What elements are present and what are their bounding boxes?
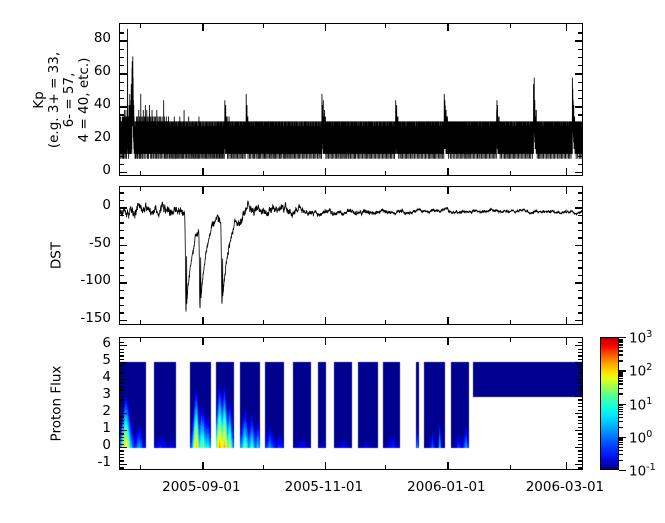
colorbar-tick-label-4: 103 [629,328,652,346]
colorbar-tick-minor [619,450,623,451]
kp-ytick-minor [120,90,124,91]
pf-ytick-minor [120,406,124,407]
xtick-minor-top [385,338,386,342]
pf-ytick-minor-right [578,359,582,360]
kp-axis-title-l2: 6- = 57, [62,0,77,200]
pf-ytick-minor [120,440,124,441]
dst-xtick-major-3 [566,317,567,324]
kp-xtick-minor [263,171,264,175]
dst-ytick-major-right-2 [575,282,582,283]
dst-ytick-minor [120,267,124,268]
kp-ytick-major-4 [120,40,127,41]
kp-ytick-minor [120,147,124,148]
dst-xtick-minor-top [140,187,141,191]
pf-ytick-major-3 [120,413,127,414]
proton-flux-panel [119,337,583,470]
dst-ytick-minor-right [578,252,582,253]
pf-ytick-minor-right [578,352,582,353]
colorbar-tick-major-0 [619,470,626,471]
kp-xtick-major-top-0 [202,24,203,31]
colorbar-tick-minor [619,421,623,422]
pf-ytick-minor-right [578,457,582,458]
kp-axis-title-l1: (e.g. 3+ = 33, [47,0,62,200]
dst-ytick-minor-right [578,290,582,291]
pf-ytick-minor-right [578,420,582,421]
pf-ytick-minor-right [578,342,582,343]
kp-xtick-major-top-2 [447,24,448,31]
kp-ytick-major-right-0 [575,172,582,173]
pf-ytick-minor-right [578,423,582,424]
pf-ytick-minor-right [578,433,582,434]
dst-ytick-minor-right [578,267,582,268]
pf-ytick-minor-right [578,399,582,400]
colorbar-tick-minor [619,342,623,343]
dst-ytick-minor [120,290,124,291]
colorbar-tick-minor [619,444,623,445]
pf-ytick-minor [120,369,124,370]
colorbar-tick-minor [619,350,623,351]
pf-ytick-minor [120,372,124,373]
kp-xtick-major-0 [202,168,203,175]
dst-ytick-major-right-0 [575,207,582,208]
dst-ytick-minor-right [578,297,582,298]
proton-flux-plot-area [120,338,582,469]
kp-xtick-minor [385,171,386,175]
pf-ytick-minor [120,355,124,356]
dst-ytick-minor [120,275,124,276]
kp-ytick-minor-right [578,57,582,58]
pf-ytick-minor-right [578,406,582,407]
pf-ytick-label-5-text: 4 [102,371,111,385]
xtick-label-1: 2005-11-01 [264,481,384,495]
dst-panel [119,186,583,325]
colorbar-tick-minor [619,414,623,415]
pf-ytick-minor-right [578,382,582,383]
dst-xtick-minor-top [263,187,264,191]
dst-ytick-label-2-text: -100 [80,274,111,288]
kp-ytick-minor-right [578,147,582,148]
colorbar-tick-minor [619,372,623,373]
proton-flux-colorbar: 10-1100101102103 [600,337,619,470]
kp-xtick-major-1 [325,168,326,175]
pf-ytick-minor-right [578,437,582,438]
kp-ytick-major-3 [120,73,127,74]
dst-ytick-minor [120,312,124,313]
pf-ytick-minor-right [578,460,582,461]
dst-ytick-major-1 [120,245,127,246]
xtick-minor-top [140,338,141,342]
kp-ytick-minor-right [578,98,582,99]
pf-ytick-minor-right [578,440,582,441]
dst-ytick-minor [120,305,124,306]
kp-ytick-minor-right [578,82,582,83]
dst-xtick-major-1 [325,317,326,324]
kp-ytick-label-4-text: 80 [94,32,111,46]
colorbar-tick-minor [619,407,623,408]
colorbar-tick-minor [619,409,623,410]
kp-ytick-minor [120,82,124,83]
pf-ytick-minor [120,393,124,394]
pf-ytick-minor-right [578,467,582,468]
colorbar-tick-minor [619,442,623,443]
kp-ytick-minor [120,164,124,165]
pf-ytick-minor-right [578,450,582,451]
pf-ytick-major-right-7 [575,345,582,346]
colorbar-tick-minor [619,360,623,361]
pf-ytick-minor [120,349,124,350]
kp-ytick-minor-right [578,164,582,165]
pf-ytick-minor [120,437,124,438]
pf-ytick-minor-right [578,365,582,366]
xtick-label-2: 2006-01-01 [386,481,506,495]
dst-xtick-minor [385,320,386,324]
dst-ytick-label-3-text: -150 [80,312,111,326]
kp-xtick-minor-top [510,24,511,28]
kp-ytick-minor-right [578,65,582,66]
kp-xtick-major-2 [447,168,448,175]
pf-ytick-minor [120,450,124,451]
xtick-major-1 [325,462,326,469]
dst-ytick-minor [120,297,124,298]
xtick-minor [140,465,141,469]
colorbar-tick-minor [619,380,623,381]
dst-ytick-minor-right [578,200,582,201]
kp-ytick-minor-right [578,90,582,91]
kp-ytick-minor-right [578,156,582,157]
pf-ytick-label-4-text: 3 [102,388,111,402]
dst-xtick-minor-top [510,187,511,191]
kp-xtick-minor-top [385,24,386,28]
colorbar-tick-minor [619,388,623,389]
dst-ytick-minor-right [578,215,582,216]
kp-ytick-label-2-text: 40 [94,98,111,112]
xtick-major-2 [447,462,448,469]
pf-ytick-minor [120,444,124,445]
colorbar-tick-label-0: 10-1 [629,461,656,479]
kp-ytick-label-3-text: 60 [94,65,111,79]
xtick-major-top-1 [325,338,326,345]
pf-ytick-major-right-4 [575,396,582,397]
dst-ytick-minor-right [578,275,582,276]
pf-ytick-major-4 [120,396,127,397]
dst-ytick-minor [120,222,124,223]
kp-axis-title: Kp(e.g. 3+ = 33,6- = 57,4 = 40, etc.) [32,0,94,200]
dst-ytick-major-3 [120,320,127,321]
pf-ytick-minor-right [578,355,582,356]
kp-xtick-minor-top [140,24,141,28]
colorbar-tick-minor [619,375,623,376]
pf-ytick-major-right-3 [575,413,582,414]
kp-ytick-minor [120,98,124,99]
pf-ytick-label-3-text: 2 [102,405,111,419]
kp-xtick-minor [140,171,141,175]
dst-ytick-minor-right [578,222,582,223]
xtick-minor-top [510,338,511,342]
dst-ytick-minor [120,215,124,216]
pf-ytick-major-6 [120,362,127,363]
pf-ytick-label-0-text: -1 [98,456,111,470]
dst-ytick-minor-right [578,192,582,193]
dst-xtick-major-top-2 [447,187,448,194]
dst-xtick-major-2 [447,317,448,324]
dst-ytick-label-0-text: 0 [102,199,111,213]
pf-ytick-major-5 [120,379,127,380]
pf-ytick-minor [120,352,124,353]
colorbar-tick-minor [619,447,623,448]
pf-ytick-minor-right [578,389,582,390]
pf-ytick-minor-right [578,372,582,373]
pf-ytick-minor-right [578,376,582,377]
dst-ytick-minor-right [578,230,582,231]
xtick-major-top-0 [202,338,203,345]
pf-ytick-minor [120,403,124,404]
pf-ytick-major-7 [120,345,127,346]
pf-ytick-minor-right [578,393,582,394]
xtick-minor [263,465,264,469]
dst-ytick-minor-right [578,305,582,306]
dst-ytick-label-1-text: -50 [89,237,111,251]
xtick-major-top-2 [447,338,448,345]
dst-xtick-minor-top [385,187,386,191]
pf-ytick-major-1 [120,447,127,448]
kp-ytick-minor [120,65,124,66]
pf-ytick-minor [120,467,124,468]
pf-ytick-label-6-text: 5 [102,354,111,368]
colorbar-tick-minor [619,378,623,379]
xtick-minor [385,465,386,469]
xtick-minor-top [263,338,264,342]
dst-ytick-minor [120,192,124,193]
dst-ytick-major-2 [120,282,127,283]
colorbar-tick-minor [619,339,623,340]
pf-ytick-major-right-6 [575,362,582,363]
kp-ytick-label-1-text: 20 [94,131,111,145]
pf-ytick-major-2 [120,430,127,431]
pf-ytick-minor [120,386,124,387]
pf-ytick-minor-right [578,416,582,417]
kp-ytick-minor [120,49,124,50]
kp-ytick-major-2 [120,106,127,107]
colorbar-tick-minor [619,354,623,355]
pf-ytick-label-1-text: 0 [102,439,111,453]
pf-ytick-minor [120,427,124,428]
colorbar-tick-minor [619,454,623,455]
kp-ytick-label-0-text: 0 [102,164,111,178]
dst-xtick-major-0 [202,317,203,324]
dst-ytick-minor [120,260,124,261]
figure-canvas: 10-1100101102103 0204060800-50-100-150-1… [0,0,665,523]
colorbar-tick-minor [619,383,623,384]
pf-ytick-minor [120,457,124,458]
kp-ytick-minor [120,57,124,58]
dst-ytick-minor-right [578,237,582,238]
dst-ytick-minor-right [578,260,582,261]
pf-ytick-minor [120,433,124,434]
pf-ytick-minor-right [578,349,582,350]
xtick-major-3 [566,462,567,469]
colorbar-tick-minor [619,438,623,439]
dst-xtick-minor [510,320,511,324]
pf-ytick-label-2-text: 1 [102,422,111,436]
pf-ytick-label-7-text: 6 [102,337,111,351]
colorbar-tick-minor [619,411,623,412]
kp-ytick-major-right-1 [575,139,582,140]
colorbar-tick-minor [619,460,623,461]
kp-ytick-minor-right [578,123,582,124]
dst-ytick-minor [120,230,124,231]
kp-ytick-minor [120,114,124,115]
kp-xtick-major-3 [566,168,567,175]
kp-plot-area [120,24,582,175]
colorbar-tick-minor [619,340,623,341]
pf-ytick-minor-right [578,386,582,387]
colorbar-tick-minor [619,347,623,348]
kp-xtick-minor-top [263,24,264,28]
kp-ytick-major-right-2 [575,106,582,107]
pf-ytick-major-right-1 [575,447,582,448]
dst-ytick-minor [120,252,124,253]
dst-ytick-major-0 [120,207,127,208]
colorbar-tick-minor [619,440,623,441]
pf-ytick-minor [120,423,124,424]
dst-ytick-minor [120,237,124,238]
kp-xtick-minor [510,171,511,175]
kp-polyline [120,29,582,159]
kp-ytick-major-0 [120,172,127,173]
pf-ytick-minor [120,399,124,400]
pf-ytick-minor-right [578,369,582,370]
xtick-label-3: 2006-03-01 [505,481,625,495]
kp-axis-title-l3: 4 = 40, etc.) [77,0,92,200]
dst-ytick-major-right-3 [575,320,582,321]
pf-ytick-minor-right [578,403,582,404]
kp-ytick-major-right-4 [575,40,582,41]
pf-ytick-minor [120,342,124,343]
pf-ytick-minor-right [578,444,582,445]
kp-ytick-minor [120,131,124,132]
pf-ytick-minor [120,376,124,377]
dst-line-series [120,187,582,324]
colorbar-tick-label-1: 100 [629,428,652,446]
xtick-major-top-3 [566,338,567,345]
kp-ytick-minor [120,123,124,124]
kp-axis-title-l0: Kp [32,0,47,200]
xtick-major-0 [202,462,203,469]
kp-ytick-minor [120,156,124,157]
pf-ytick-minor [120,365,124,366]
xtick-label-0: 2005-09-01 [141,481,261,495]
proton-flux-spectrogram [120,338,582,469]
pf-ytick-minor-right [578,427,582,428]
pf-ytick-major-right-0 [575,464,582,465]
pf-ytick-minor-right [578,454,582,455]
pf-ytick-minor [120,420,124,421]
dst-xtick-major-top-1 [325,187,326,194]
dst-axis-title: DST [50,195,65,315]
kp-panel [119,23,583,176]
proton-flux-axis-title: Proton Flux [50,333,65,473]
colorbar-tick-label-2: 101 [629,395,652,413]
colorbar-tick-minor [619,344,623,345]
pf-ytick-minor [120,454,124,455]
colorbar-gradient [600,337,619,470]
dst-xtick-major-top-0 [202,187,203,194]
dst-xtick-major-top-3 [566,187,567,194]
kp-ytick-minor-right [578,114,582,115]
colorbar-tick-minor [619,393,623,394]
pf-ytick-minor [120,382,124,383]
pf-ytick-minor [120,416,124,417]
dst-plot-area [120,187,582,324]
dst-ytick-minor [120,200,124,201]
pf-ytick-minor [120,460,124,461]
pf-ytick-major-right-2 [575,430,582,431]
dst-polyline [120,201,582,312]
pf-ytick-major-0 [120,464,127,465]
colorbar-tick-minor [619,405,623,406]
colorbar-tick-label-3: 102 [629,361,652,379]
colorbar-tick-minor [619,417,623,418]
pf-ytick-minor [120,389,124,390]
kp-ytick-major-1 [120,139,127,140]
dst-ytick-major-right-1 [575,245,582,246]
kp-ytick-major-right-3 [575,73,582,74]
colorbar-tick-minor [619,373,623,374]
pf-ytick-minor-right [578,410,582,411]
kp-ytick-minor-right [578,49,582,50]
kp-ytick-minor-right [578,32,582,33]
dst-xtick-minor [140,320,141,324]
kp-xtick-major-top-3 [566,24,567,31]
pf-ytick-major-right-5 [575,379,582,380]
kp-xtick-major-top-1 [325,24,326,31]
xtick-minor [510,465,511,469]
pf-ytick-minor [120,359,124,360]
colorbar-tick-minor [619,427,623,428]
kp-line-series [120,24,582,175]
pf-ytick-minor [120,410,124,411]
dst-ytick-minor-right [578,312,582,313]
dst-xtick-minor [263,320,264,324]
kp-ytick-minor-right [578,131,582,132]
kp-ytick-minor [120,32,124,33]
